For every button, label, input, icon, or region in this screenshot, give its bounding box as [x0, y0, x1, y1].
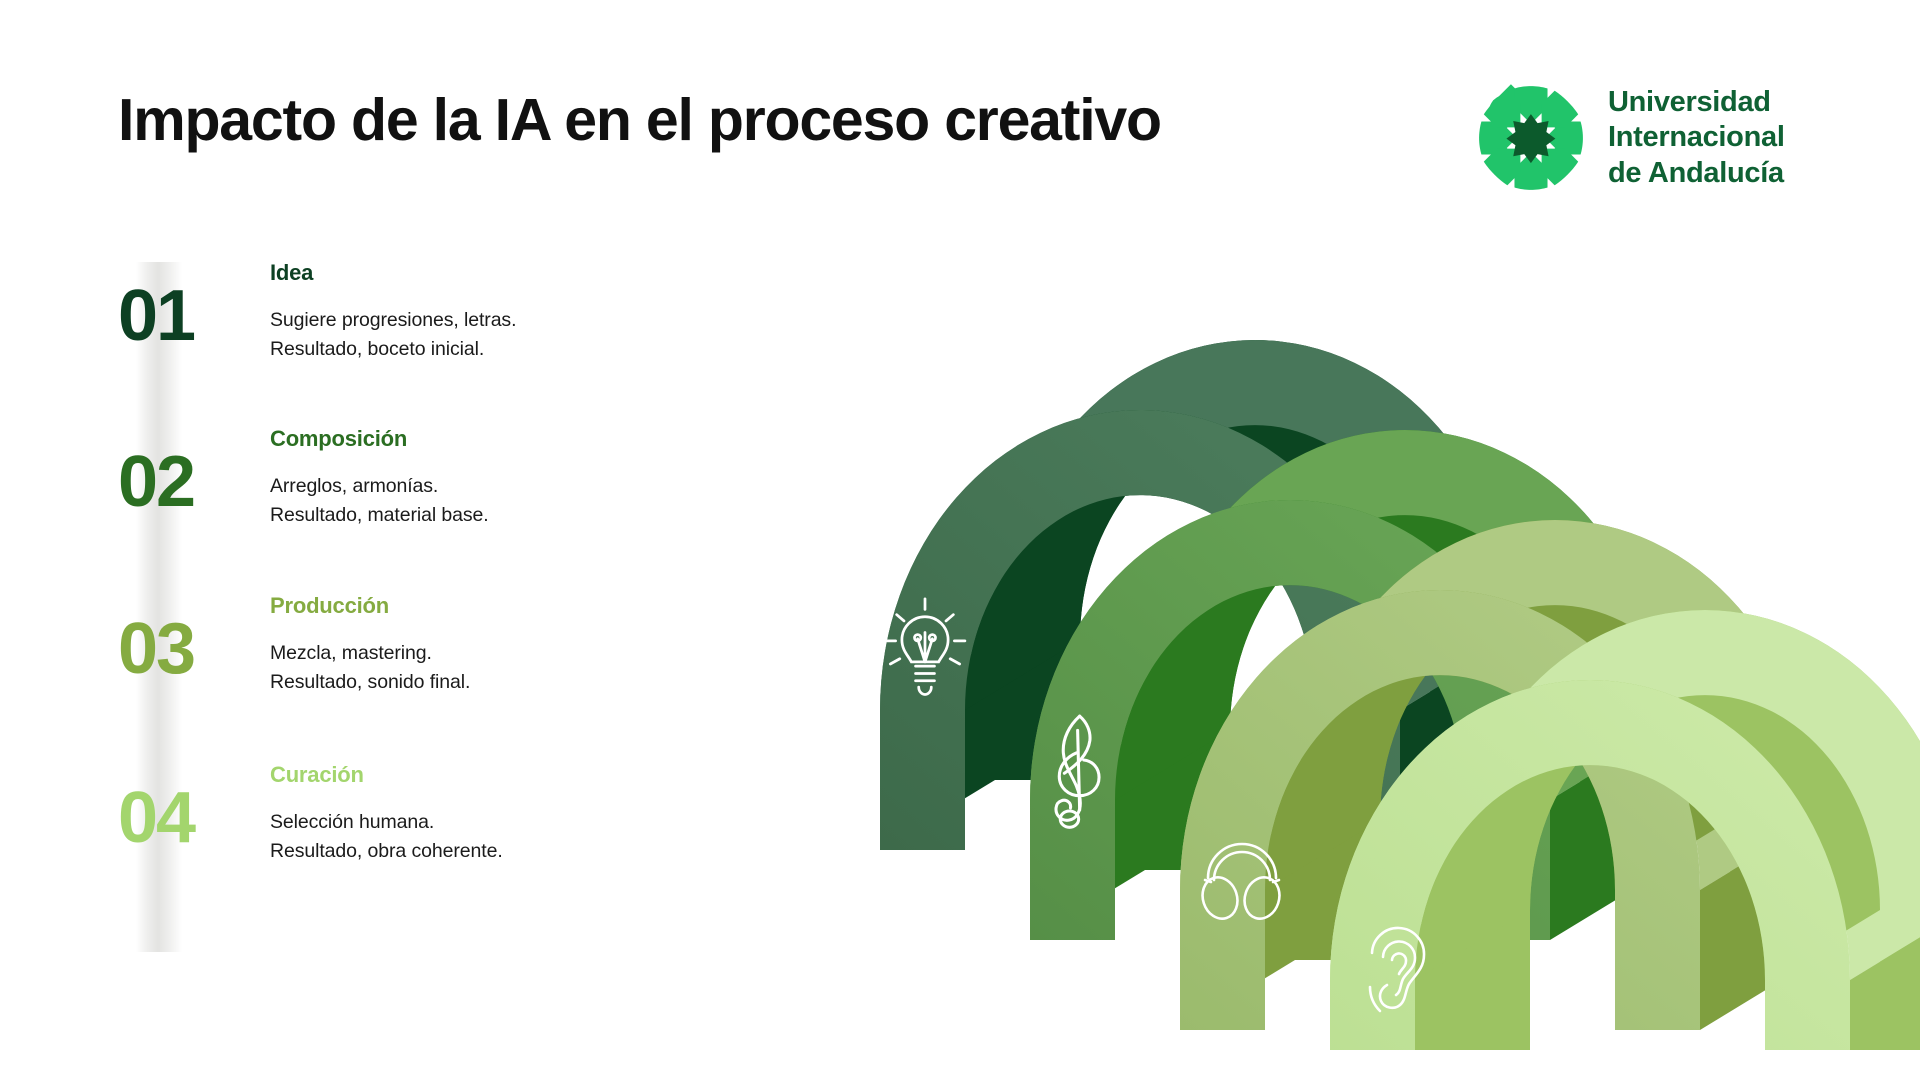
step-description-line-2: Resultado, obra coherente.	[270, 837, 670, 866]
isometric-arch-diagram	[760, 150, 1920, 1050]
step-body: Curación Selección humana. Resultado, ob…	[270, 764, 670, 866]
logo-line-1: Universidad	[1608, 85, 1785, 120]
step-description-line-1: Arreglos, armonías.	[270, 472, 670, 501]
step-description-line-2: Resultado, boceto inicial.	[270, 335, 670, 364]
step-description-line-2: Resultado, sonido final.	[270, 668, 670, 697]
steps-list: 01 Idea Sugiere progresiones, letras. Re…	[118, 262, 678, 952]
step-description: Selección humana. Resultado, obra cohere…	[270, 808, 670, 866]
step-body: Composición Arreglos, armonías. Resultad…	[270, 428, 670, 530]
step-number: 03	[118, 613, 238, 685]
step-title: Idea	[270, 262, 670, 284]
list-item: 02 Composición Arreglos, armonías. Resul…	[118, 428, 678, 578]
step-body: Producción Mezcla, mastering. Resultado,…	[270, 595, 670, 697]
step-description: Arreglos, armonías. Resultado, material …	[270, 472, 670, 530]
step-description: Sugiere progresiones, letras. Resultado,…	[270, 306, 670, 364]
step-description-line-2: Resultado, material base.	[270, 501, 670, 530]
step-number: 02	[118, 446, 238, 518]
step-number: 01	[118, 280, 238, 352]
step-description-line-1: Sugiere progresiones, letras.	[270, 306, 670, 335]
page-title: Impacto de la IA en el proceso creativo	[118, 90, 1161, 152]
list-item: 03 Producción Mezcla, mastering. Resulta…	[118, 595, 678, 745]
step-description-line-1: Selección humana.	[270, 808, 670, 837]
step-number: 04	[118, 782, 238, 854]
list-item: 04 Curación Selección humana. Resultado,…	[118, 764, 678, 914]
step-description-line-1: Mezcla, mastering.	[270, 639, 670, 668]
slide-root: Impacto de la IA en el proceso creativo	[0, 0, 1920, 1080]
step-body: Idea Sugiere progresiones, letras. Resul…	[270, 262, 670, 364]
step-title: Curación	[270, 764, 670, 786]
step-title: Composición	[270, 428, 670, 450]
step-title: Producción	[270, 595, 670, 617]
list-item: 01 Idea Sugiere progresiones, letras. Re…	[118, 262, 678, 412]
step-description: Mezcla, mastering. Resultado, sonido fin…	[270, 639, 670, 697]
